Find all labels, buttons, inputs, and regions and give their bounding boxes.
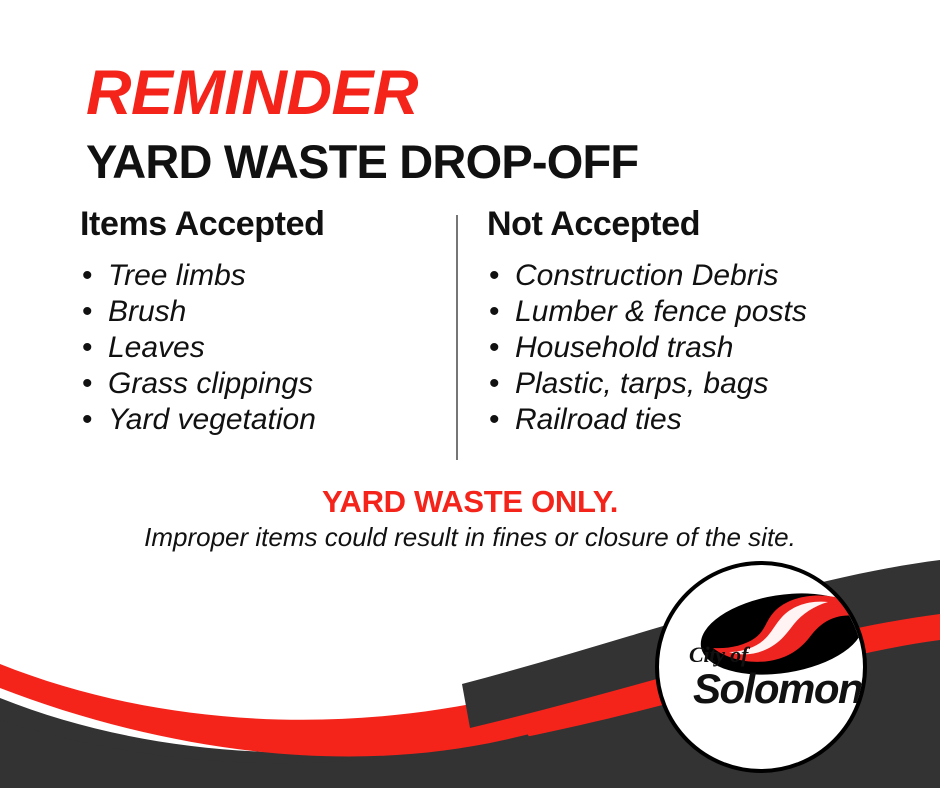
accepted-list-item: •Tree limbs — [80, 258, 440, 294]
not-accepted-list-item-label: Lumber & fence posts — [515, 295, 807, 328]
accepted-list: •Tree limbs•Brush•Leaves•Grass clippings… — [80, 258, 440, 438]
bullet-icon: • — [489, 366, 500, 402]
accepted-column-title: Items Accepted — [80, 205, 440, 244]
bullet-icon: • — [82, 366, 93, 402]
accepted-list-item-label: Leaves — [108, 331, 205, 364]
bullet-icon: • — [489, 258, 500, 294]
column-divider — [456, 215, 458, 460]
bullet-icon: • — [489, 330, 500, 366]
accepted-list-item-label: Tree limbs — [108, 259, 246, 292]
not-accepted-list: •Construction Debris•Lumber & fence post… — [487, 258, 917, 438]
page-title: YARD WASTE DROP-OFF — [86, 137, 886, 186]
lists-region: Items Accepted •Tree limbs•Brush•Leaves•… — [0, 205, 940, 470]
not-accepted-column-title: Not Accepted — [487, 205, 917, 244]
accepted-list-item-label: Yard vegetation — [108, 403, 316, 436]
header-block: REMINDER YARD WASTE DROP-OFF — [86, 62, 886, 186]
notice-subtext: Improper items could result in fines or … — [0, 522, 940, 553]
accepted-list-item: •Brush — [80, 294, 440, 330]
not-accepted-list-item: •Household trash — [487, 330, 917, 366]
notice-headline: YARD WASTE ONLY. — [0, 484, 940, 520]
logo-solomon-text: Solomon — [693, 665, 862, 713]
not-accepted-list-item: •Construction Debris — [487, 258, 917, 294]
accepted-column: Items Accepted •Tree limbs•Brush•Leaves•… — [80, 205, 440, 438]
city-of-solomon-logo: City of Solomon — [655, 561, 867, 773]
not-accepted-list-item-label: Plastic, tarps, bags — [515, 367, 768, 400]
not-accepted-list-item: •Plastic, tarps, bags — [487, 366, 917, 402]
accepted-list-item: •Leaves — [80, 330, 440, 366]
not-accepted-column: Not Accepted •Construction Debris•Lumber… — [487, 205, 917, 438]
bullet-icon: • — [489, 294, 500, 330]
bullet-icon: • — [489, 402, 500, 438]
reminder-eyebrow: REMINDER — [86, 62, 886, 125]
accepted-list-item: •Yard vegetation — [80, 402, 440, 438]
not-accepted-list-item-label: Construction Debris — [515, 259, 778, 292]
not-accepted-list-item: •Railroad ties — [487, 402, 917, 438]
bullet-icon: • — [82, 294, 93, 330]
not-accepted-list-item: •Lumber & fence posts — [487, 294, 917, 330]
not-accepted-list-item-label: Household trash — [515, 331, 733, 364]
bullet-icon: • — [82, 330, 93, 366]
accepted-list-item: •Grass clippings — [80, 366, 440, 402]
accepted-list-item-label: Grass clippings — [108, 367, 313, 400]
accepted-list-item-label: Brush — [108, 295, 186, 328]
poster-canvas: REMINDER YARD WASTE DROP-OFF Items Accep… — [0, 0, 940, 788]
bullet-icon: • — [82, 258, 93, 294]
not-accepted-list-item-label: Railroad ties — [515, 403, 682, 436]
bullet-icon: • — [82, 402, 93, 438]
